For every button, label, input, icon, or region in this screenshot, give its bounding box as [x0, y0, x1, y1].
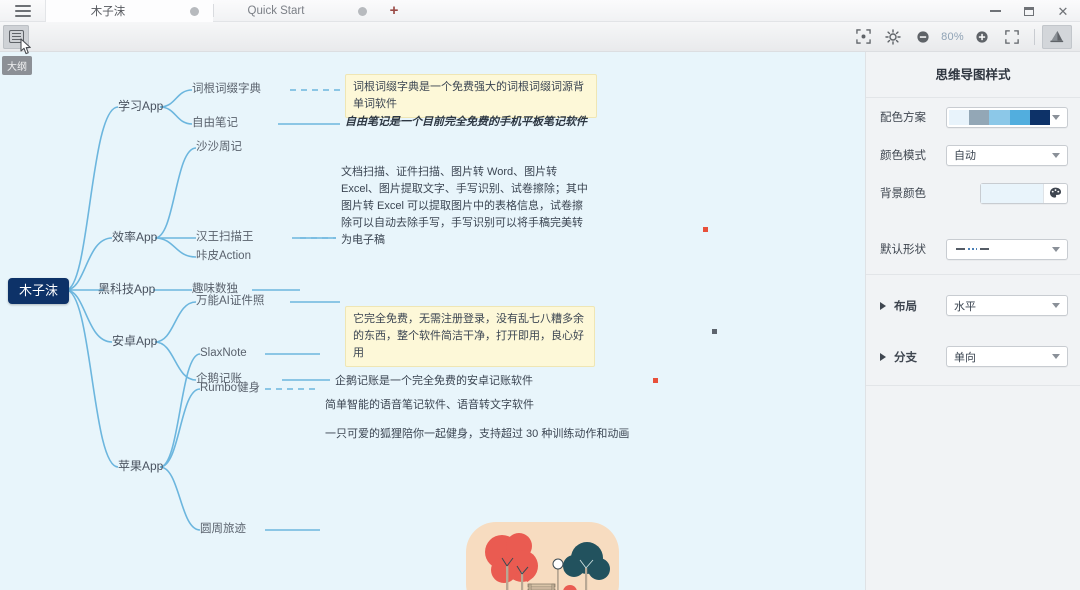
row-color-mode: 颜色模式 自动 [866, 136, 1080, 174]
note-cigen-cizhui-zidian[interactable]: 词根词缀字典是一个免费强大的词根词缀词源背单词软件 [345, 74, 597, 118]
brightness-icon [885, 29, 901, 45]
close-button[interactable]: ✕ [1046, 0, 1080, 22]
park-illustration[interactable] [466, 522, 619, 590]
tab-modified-dot[interactable] [358, 7, 367, 16]
shape-dash-icon [956, 248, 965, 250]
focus-icon [856, 29, 871, 44]
zoom-level-label: 80% [938, 31, 967, 43]
zoom-out-button[interactable] [908, 25, 938, 49]
mindmap-node-cigen-cizhui-zidian[interactable]: 词根词缀字典 [192, 82, 261, 96]
color-mode-value: 自动 [947, 147, 976, 163]
theme-button[interactable] [878, 25, 908, 49]
priority-marker-red[interactable] [703, 227, 708, 232]
layout-select[interactable]: 水平 [946, 295, 1068, 316]
zoom-out-icon [916, 30, 930, 44]
panel-divider [866, 274, 1080, 275]
layout-value: 水平 [947, 298, 976, 314]
swatch-1 [949, 110, 969, 125]
color-scheme-swatches [947, 108, 1052, 127]
mindmap-node-xiaolv-app[interactable]: 效率App [112, 230, 157, 245]
chevron-down-icon [1052, 115, 1060, 120]
mindmap-node-pingguo-app[interactable]: 苹果App [118, 459, 163, 474]
swatch-3 [989, 110, 1009, 125]
branch-label: 分支 [894, 349, 946, 365]
row-layout: 布局 水平 [866, 283, 1080, 328]
color-mode-select[interactable]: 自动 [946, 145, 1068, 166]
default-shape-select[interactable] [946, 239, 1068, 260]
chevron-down-icon [1052, 153, 1060, 158]
toolbar-left-group [0, 25, 29, 49]
swatch-5 [1030, 110, 1050, 125]
default-shape-label: 默认形状 [880, 241, 946, 257]
mindmap-canvas[interactable]: 木子沫 学习App 效率App 黑科技App 安卓App 苹果App 词根词缀字… [0, 52, 865, 590]
priority-marker-red[interactable] [653, 378, 658, 383]
title-bar: 木子沫 Quick Start + ✕ [0, 0, 1080, 22]
mindmap-node-hanwang-saomiaowang[interactable]: 汉王扫描王 [196, 230, 254, 244]
layout-label: 布局 [894, 298, 946, 314]
minimize-icon [990, 10, 1001, 12]
tab-mu-zi-mo[interactable]: 木子沫 [46, 0, 213, 22]
zoom-in-button[interactable] [967, 25, 997, 49]
mindmap-node-kapi-action[interactable]: 咔皮Action [196, 249, 251, 263]
style-panel-icon [1049, 29, 1065, 44]
tab-modified-dot[interactable] [190, 7, 199, 16]
window-controls: ✕ [978, 0, 1080, 22]
toolbar-divider [1034, 29, 1035, 45]
note-slaxnote[interactable]: 简单智能的语音笔记软件、语音转文字软件 [325, 397, 645, 414]
panel-divider [866, 385, 1080, 386]
hamburger-icon [15, 5, 31, 7]
maximize-icon [1024, 7, 1034, 16]
shape-dots-icon [968, 248, 977, 250]
style-panel: 思维导图样式 配色方案 颜色模式 自动 背景 [865, 52, 1080, 590]
main-menu-button[interactable] [0, 0, 46, 21]
mindmap-node-yuanzhou-lvji[interactable]: 圆周旅迹 [200, 522, 246, 536]
mindmap-node-xuexi-app[interactable]: 学习App [118, 99, 163, 114]
outline-tooltip: 大纲 [2, 56, 32, 75]
tab-label: Quick Start [228, 5, 324, 17]
mindmap-node-ziyou-biji[interactable]: 自由笔记 [192, 116, 238, 130]
chevron-down-icon [1052, 303, 1060, 308]
toolbar: 80% [0, 22, 1080, 52]
new-tab-button[interactable]: + [381, 0, 407, 21]
row-default-shape: 默认形状 [866, 230, 1080, 268]
fullscreen-button[interactable] [997, 25, 1027, 49]
palette-icon[interactable] [1043, 184, 1067, 203]
color-scheme-select[interactable] [946, 107, 1068, 128]
outline-icon [9, 30, 24, 43]
color-mode-label: 颜色模式 [880, 147, 946, 163]
hamburger-icon [15, 15, 31, 17]
hamburger-icon [15, 10, 31, 12]
background-color-swatch [981, 184, 1043, 203]
maximize-button[interactable] [1012, 0, 1046, 22]
mindmap-node-rumbo-jianshen[interactable]: Rumbo健身 [200, 381, 260, 395]
toolbar-right-group: 80% [848, 25, 1080, 49]
shape-dash-icon [980, 248, 989, 250]
color-scheme-label: 配色方案 [880, 109, 946, 125]
swatch-2 [969, 110, 989, 125]
note-qie-jizhang[interactable]: 企鹅记账是一个完全免费的安卓记账软件 [335, 373, 635, 390]
row-background-color: 背景颜色 [866, 174, 1080, 212]
zoom-in-icon [975, 30, 989, 44]
row-color-scheme: 配色方案 [866, 98, 1080, 136]
priority-marker-gray[interactable] [712, 329, 717, 334]
minimize-button[interactable] [978, 0, 1012, 22]
expand-triangle-icon[interactable] [880, 302, 886, 310]
note-rumbo-jianshen[interactable]: 一只可爱的狐狸陪你一起健身，支持超过 30 种训练动作和动画 [325, 426, 635, 443]
branch-value: 单向 [947, 349, 976, 365]
chevron-down-icon [1052, 247, 1060, 252]
shape-preview [947, 248, 989, 250]
chevron-down-icon [1052, 354, 1060, 359]
row-branch: 分支 单向 [866, 334, 1080, 379]
background-color-label: 背景颜色 [880, 185, 946, 201]
style-panel-toggle[interactable] [1042, 25, 1072, 49]
note-wanneng-ai-zhengjianzhao[interactable]: 它完全免费，无需注册登录，没有乱七八糟多余的东西，整个软件简洁干净，打开即用，良… [345, 306, 595, 367]
background-color-picker[interactable] [980, 183, 1068, 204]
mindmap-node-wanneng-ai-zhengjianzhao[interactable]: 万能AI证件照 [196, 294, 264, 308]
outline-view-button[interactable] [3, 25, 29, 49]
mindmap-root-node[interactable]: 木子沫 [8, 278, 69, 304]
tab-quick-start[interactable]: Quick Start [214, 0, 381, 22]
mindmap-node-shasha-zhouji[interactable]: 沙沙周记 [196, 140, 242, 154]
fullscreen-icon [1005, 30, 1019, 44]
mindmap-node-slaxnote[interactable]: SlaxNote [200, 346, 247, 360]
note-hanwang-saomiaowang[interactable]: 文档扫描、证件扫描、图片转 Word、图片转 Excel、图片提取文字、手写识别… [341, 164, 593, 249]
swatch-4 [1010, 110, 1030, 125]
mindmap-node-heikeji-app[interactable]: 黑科技App [98, 282, 155, 297]
style-panel-title: 思维导图样式 [866, 52, 1080, 97]
close-icon: ✕ [1058, 5, 1069, 18]
branch-select[interactable]: 单向 [946, 346, 1068, 367]
tab-label: 木子沫 [60, 3, 156, 19]
mindmap-node-anzhuo-app[interactable]: 安卓App [112, 334, 157, 349]
focus-button[interactable] [848, 25, 878, 49]
application-window: 木子沫 Quick Start + ✕ [0, 0, 1080, 590]
expand-triangle-icon[interactable] [880, 353, 886, 361]
note-ziyou-biji[interactable]: 自由笔记是一个目前完全免费的手机平板笔记软件 [345, 114, 595, 131]
